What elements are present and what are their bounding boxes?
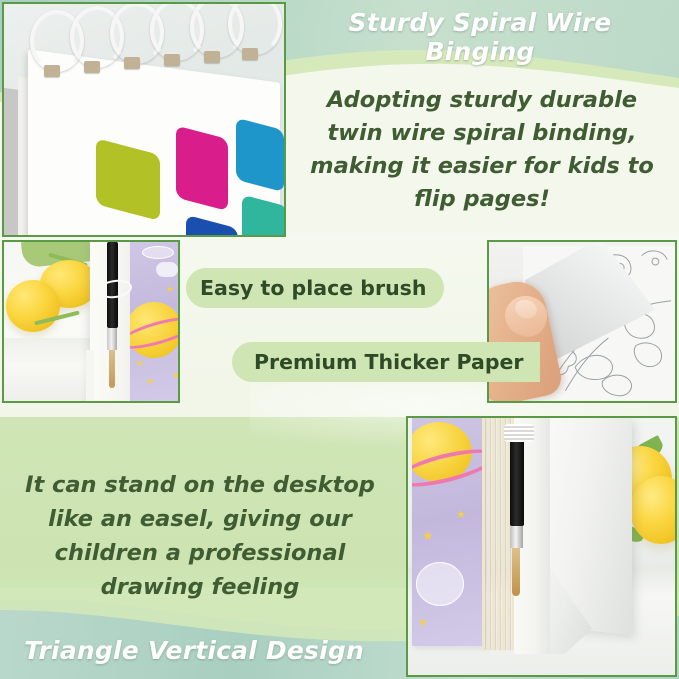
star-icon: ★: [172, 372, 180, 381]
swatch-magenta: [176, 125, 228, 211]
star-icon: ★: [136, 360, 144, 369]
brush-bristles: [512, 548, 520, 596]
brush-retaining-loop: [504, 424, 534, 442]
spiral-front-cover: [28, 49, 280, 237]
photo-brush-holder: ★ ★ ★ ★: [2, 240, 180, 403]
swatch-olive-lime: [96, 138, 160, 221]
sketchbook-space-cover: ★ ★ ★: [412, 416, 484, 646]
brush-ferrule: [510, 526, 523, 548]
sketchbook-space-cover: ★ ★ ★ ★: [130, 240, 180, 403]
star-icon: ★: [166, 286, 174, 295]
pill-premium-thicker-paper: Premium Thicker Paper: [232, 342, 540, 382]
pill-label: Easy to place brush: [200, 276, 426, 300]
alien-character-icon: [416, 562, 464, 606]
speech-bubble-icon: [156, 262, 178, 277]
pill-label: Premium Thicker Paper: [254, 350, 524, 374]
star-icon: ★: [418, 618, 428, 627]
header-title: Sturdy Spiral Wire Binging: [290, 8, 670, 66]
brush-handle: [510, 430, 524, 526]
swatch-cyan-blue: [236, 118, 284, 193]
header-body-text: Adopting sturdy durable twin wire spiral…: [296, 84, 668, 216]
swatch-royal-blue: [186, 215, 238, 237]
pill-easy-to-place-brush: Easy to place brush: [186, 268, 444, 308]
lemon-icon: [6, 280, 60, 332]
brush-ferrule: [107, 328, 117, 350]
footer-body-text: It can stand on the desktop like an ease…: [14, 468, 386, 604]
photo-easel-stand: ★ ★ ★: [406, 416, 677, 677]
brush-bristles: [109, 350, 115, 388]
photo-spiral-binding: [2, 2, 286, 237]
infographic-canvas: ★ ★ ★ ★: [0, 0, 679, 679]
swatch-teal-green: [242, 195, 286, 237]
ufo-icon: [142, 246, 174, 259]
star-icon: ★: [422, 532, 434, 541]
sketchbook-edge-strip: [86, 350, 94, 403]
star-icon: ★: [456, 510, 466, 519]
star-icon: ★: [146, 378, 154, 387]
footer-title: Triangle Vertical Design: [8, 636, 380, 665]
